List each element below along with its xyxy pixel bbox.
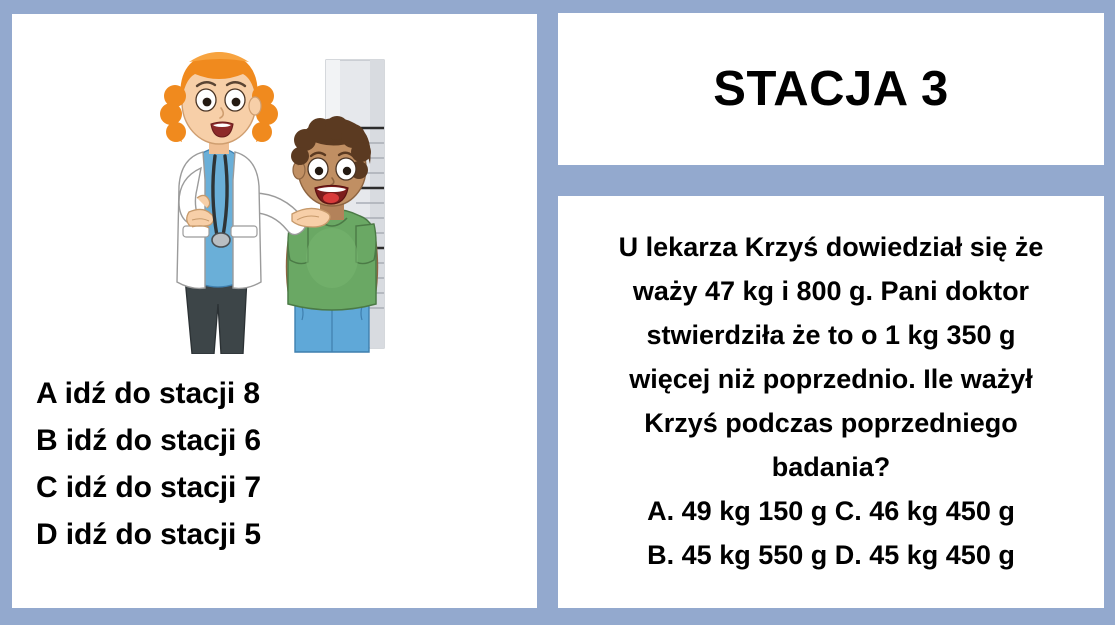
question-line-6: badania? xyxy=(772,445,891,489)
answer-options-list: A idź do stacji 8 B idź do stacji 6 C id… xyxy=(36,370,516,558)
question-line-1: U lekarza Krzyś dowiedział się że xyxy=(619,225,1044,269)
slide-root: A idź do stacji 8 B idź do stacji 6 C id… xyxy=(0,0,1115,625)
question-line-2: waży 47 kg i 800 g. Pani doktor xyxy=(633,269,1029,313)
left-panel: A idź do stacji 8 B idź do stacji 6 C id… xyxy=(12,14,537,608)
station-title-box: STACJA 3 xyxy=(558,13,1104,165)
answer-option-a[interactable]: A idź do stacji 8 xyxy=(36,370,516,417)
question-line-4: więcej niż poprzednio. Ile ważył xyxy=(629,357,1033,401)
question-option-row-ac[interactable]: A. 49 kg 150 g C. 46 kg 450 g xyxy=(647,489,1015,533)
page-title: STACJA 3 xyxy=(713,61,948,117)
question-line-5: Krzyś podczas poprzedniego xyxy=(644,401,1018,445)
question-line-3: stwierdziła że to o 1 kg 350 g xyxy=(646,313,1015,357)
question-option-row-bd[interactable]: B. 45 kg 550 g D. 45 kg 450 g xyxy=(647,533,1015,577)
doctor-measuring-child-illustration xyxy=(145,28,397,354)
question-box: U lekarza Krzyś dowiedział się że waży 4… xyxy=(558,196,1104,608)
child-figure xyxy=(286,116,377,352)
answer-option-b[interactable]: B idź do stacji 6 xyxy=(36,417,516,464)
answer-option-c[interactable]: C idź do stacji 7 xyxy=(36,464,516,511)
answer-option-d[interactable]: D idź do stacji 5 xyxy=(36,511,516,558)
